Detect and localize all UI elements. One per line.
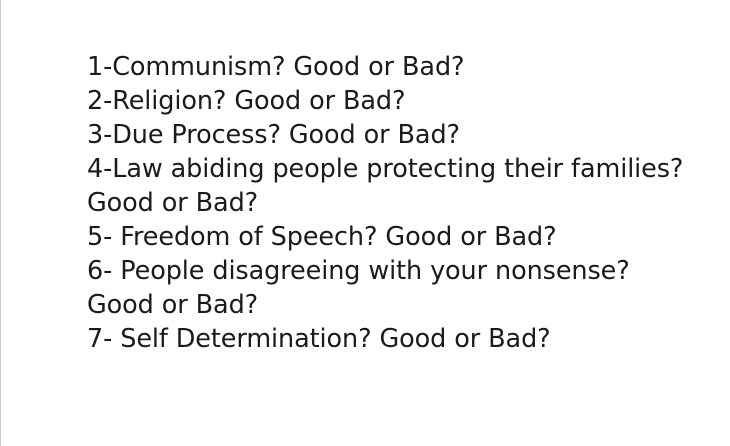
question-line-4: 4-Law abiding people protecting their fa… xyxy=(87,152,716,186)
question-line-1: 1-Communism? Good or Bad? xyxy=(87,50,716,84)
question-line-6: 6- People disagreeing with your nonsense… xyxy=(87,254,716,288)
question-list: 1-Communism? Good or Bad? 2-Religion? Go… xyxy=(87,50,716,356)
question-line-2: 2-Religion? Good or Bad? xyxy=(87,84,716,118)
question-line-6-continuation: Good or Bad? xyxy=(87,288,716,322)
question-line-3: 3-Due Process? Good or Bad? xyxy=(87,118,716,152)
slide-canvas: 1-Communism? Good or Bad? 2-Religion? Go… xyxy=(0,0,730,446)
question-line-4-continuation: Good or Bad? xyxy=(87,186,716,220)
question-line-7: 7- Self Determination? Good or Bad? xyxy=(87,322,716,356)
question-line-5: 5- Freedom of Speech? Good or Bad? xyxy=(87,220,716,254)
